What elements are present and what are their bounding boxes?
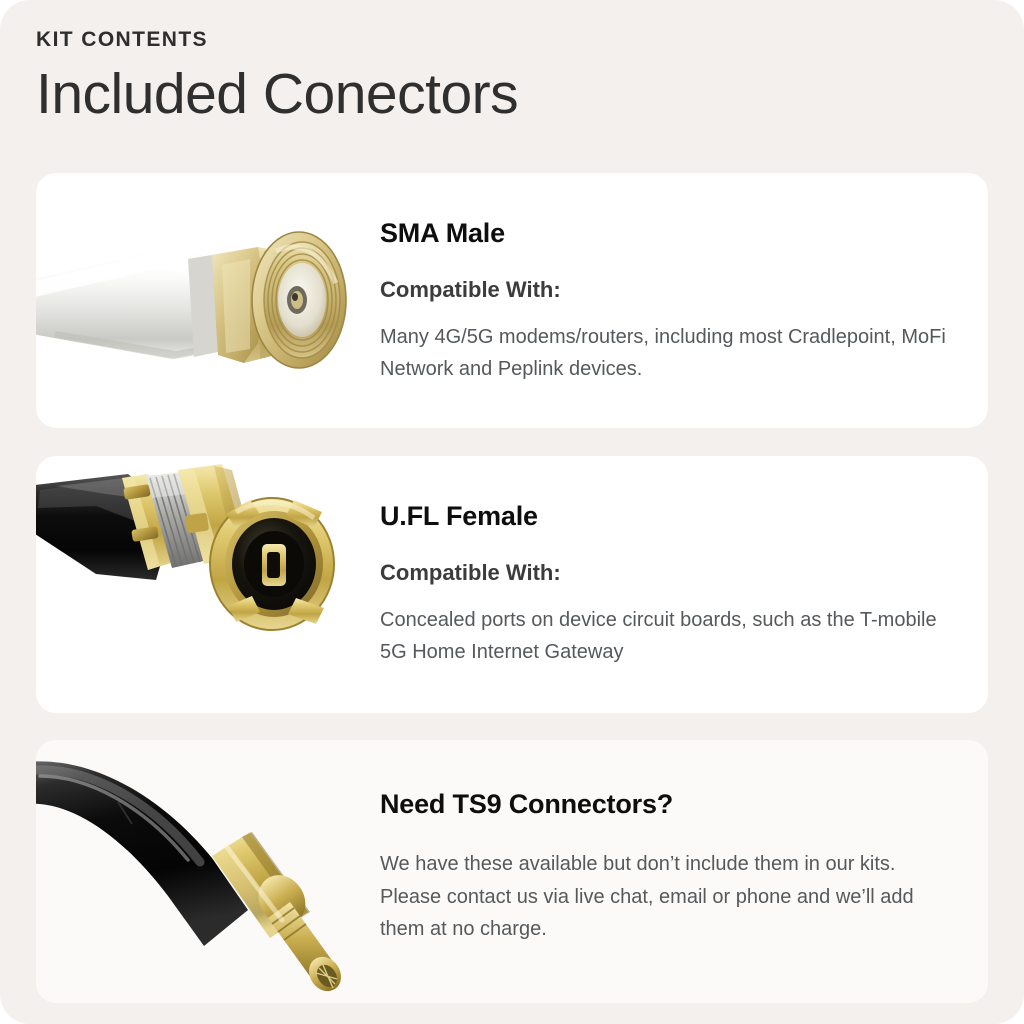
connector-title: Need TS9 Connectors? (380, 788, 948, 820)
connector-title: U.FL Female (380, 500, 948, 532)
connector-text-sma-male: SMA Male Compatible With: Many 4G/5G mod… (380, 173, 988, 428)
connector-title: SMA Male (380, 217, 948, 249)
header: KIT CONTENTS Included Conectors (36, 28, 936, 125)
kit-contents-panel: KIT CONTENTS Included Conectors (0, 0, 1024, 1024)
connector-text-ts9: Need TS9 Connectors? We have these avail… (380, 740, 988, 1003)
eyebrow-label: KIT CONTENTS (36, 28, 936, 51)
connector-image-sma-male (36, 173, 380, 428)
compatible-with-body: Concealed ports on device circuit boards… (380, 604, 948, 669)
connector-image-ufl-female (36, 456, 380, 713)
compatible-with-body: We have these available but don’t includ… (380, 848, 948, 945)
connector-text-ufl-female: U.FL Female Compatible With: Concealed p… (380, 456, 988, 713)
connector-card-ufl-female: U.FL Female Compatible With: Concealed p… (36, 456, 988, 713)
compatible-with-label: Compatible With: (380, 560, 948, 586)
connector-image-ts9 (36, 740, 380, 1003)
compatible-with-label: Compatible With: (380, 277, 948, 303)
page-title: Included Conectors (36, 65, 936, 125)
compatible-with-body: Many 4G/5G modems/routers, including mos… (380, 321, 948, 386)
connector-card-sma-male: SMA Male Compatible With: Many 4G/5G mod… (36, 173, 988, 428)
connector-card-ts9: Need TS9 Connectors? We have these avail… (36, 740, 988, 1003)
